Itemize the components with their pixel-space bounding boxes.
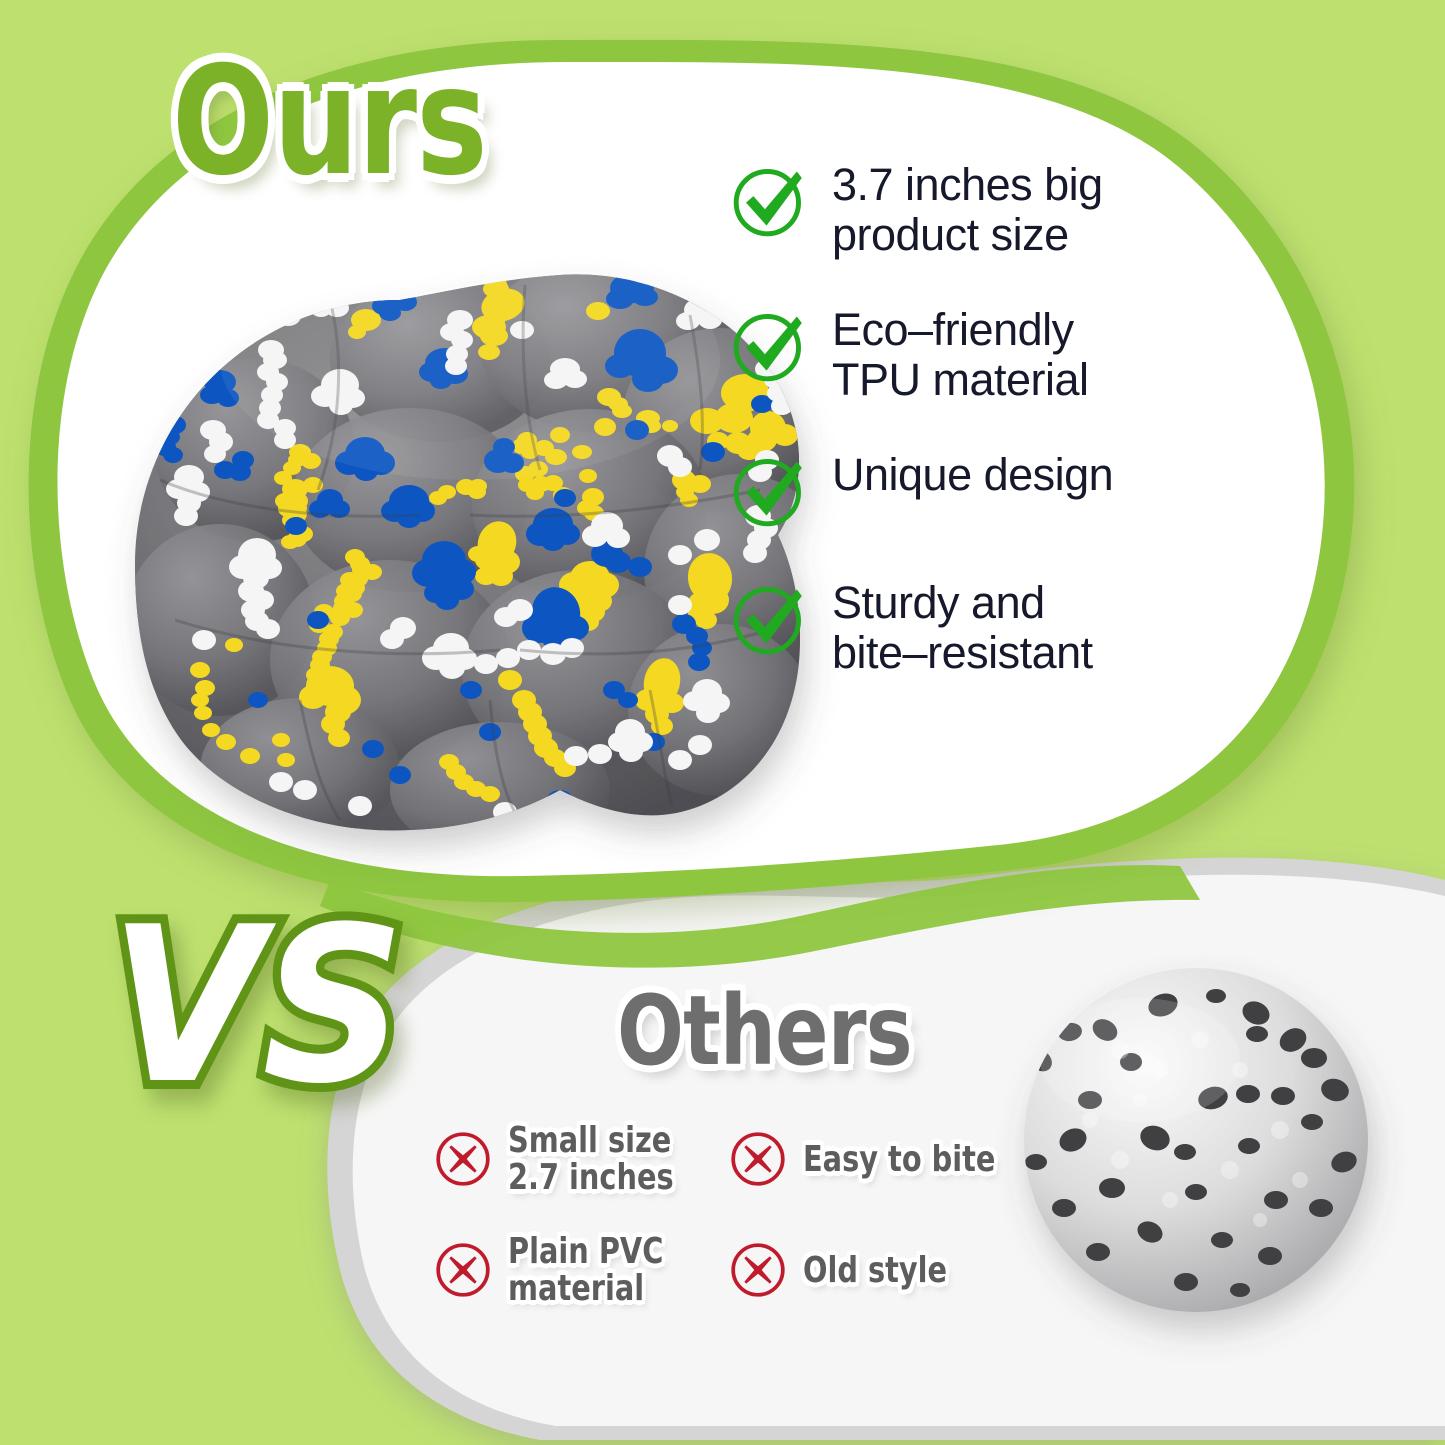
feature-item: Eco–friendly TPU material — [728, 303, 1158, 404]
others-drawback-list: Small size 2.7 inches Easy to bite — [432, 1122, 1022, 1344]
feature-text: Eco–friendly TPU material — [832, 303, 1089, 404]
x-circle-icon — [432, 1128, 494, 1190]
drawback-item: Plain PVC material — [432, 1233, 727, 1308]
check-circle-icon — [728, 305, 810, 387]
drawback-line-2: material — [508, 1270, 663, 1307]
drawback-line-1: Easy to bite — [803, 1139, 995, 1180]
drawback-text: Plain PVC material — [508, 1233, 663, 1308]
ours-feature-list: 3.7 inches big product size Eco–friendly… — [728, 158, 1158, 677]
drawback-line-1: Old style — [803, 1250, 947, 1291]
drawback-item: Small size 2.7 inches — [432, 1122, 727, 1197]
feature-line-1: 3.7 inches big — [832, 159, 1103, 210]
x-circle-icon — [432, 1239, 494, 1301]
feature-text: Unique design — [832, 448, 1113, 500]
feature-text: Sturdy and bite–resistant — [832, 576, 1093, 677]
feature-line-2: bite–resistant — [832, 628, 1093, 678]
drawback-item: Old style — [727, 1233, 1022, 1308]
x-circle-icon — [727, 1239, 789, 1301]
drawback-line-1: Small size — [508, 1120, 671, 1161]
others-title: Others — [617, 975, 912, 1087]
feature-item: Unique design — [728, 448, 1158, 532]
vs-divider-label: VS — [110, 880, 404, 1131]
ours-title: Ours — [172, 35, 487, 209]
drawback-text: Easy to bite — [803, 1141, 995, 1178]
check-circle-icon — [728, 578, 810, 660]
feature-line-1: Eco–friendly — [832, 304, 1074, 355]
feature-item: 3.7 inches big product size — [728, 158, 1158, 259]
feature-text: 3.7 inches big product size — [832, 158, 1103, 259]
drawback-line-2: 2.7 inches — [508, 1159, 674, 1196]
drawback-item: Easy to bite — [727, 1122, 1022, 1197]
comparison-infographic: Ours VS Others 3.7 inches big product si… — [0, 0, 1445, 1445]
feature-line-1: Unique design — [832, 449, 1113, 500]
drawback-text: Old style — [803, 1252, 947, 1289]
x-circle-icon — [727, 1128, 789, 1190]
feature-item: Sturdy and bite–resistant — [728, 576, 1158, 677]
feature-line-2: TPU material — [832, 355, 1089, 405]
drawback-line-1: Plain PVC — [508, 1231, 663, 1272]
feature-line-1: Sturdy and — [832, 577, 1045, 628]
drawback-text: Small size 2.7 inches — [508, 1122, 674, 1197]
feature-line-2: product size — [832, 210, 1103, 260]
check-circle-icon — [728, 160, 810, 242]
check-circle-icon — [728, 450, 810, 532]
